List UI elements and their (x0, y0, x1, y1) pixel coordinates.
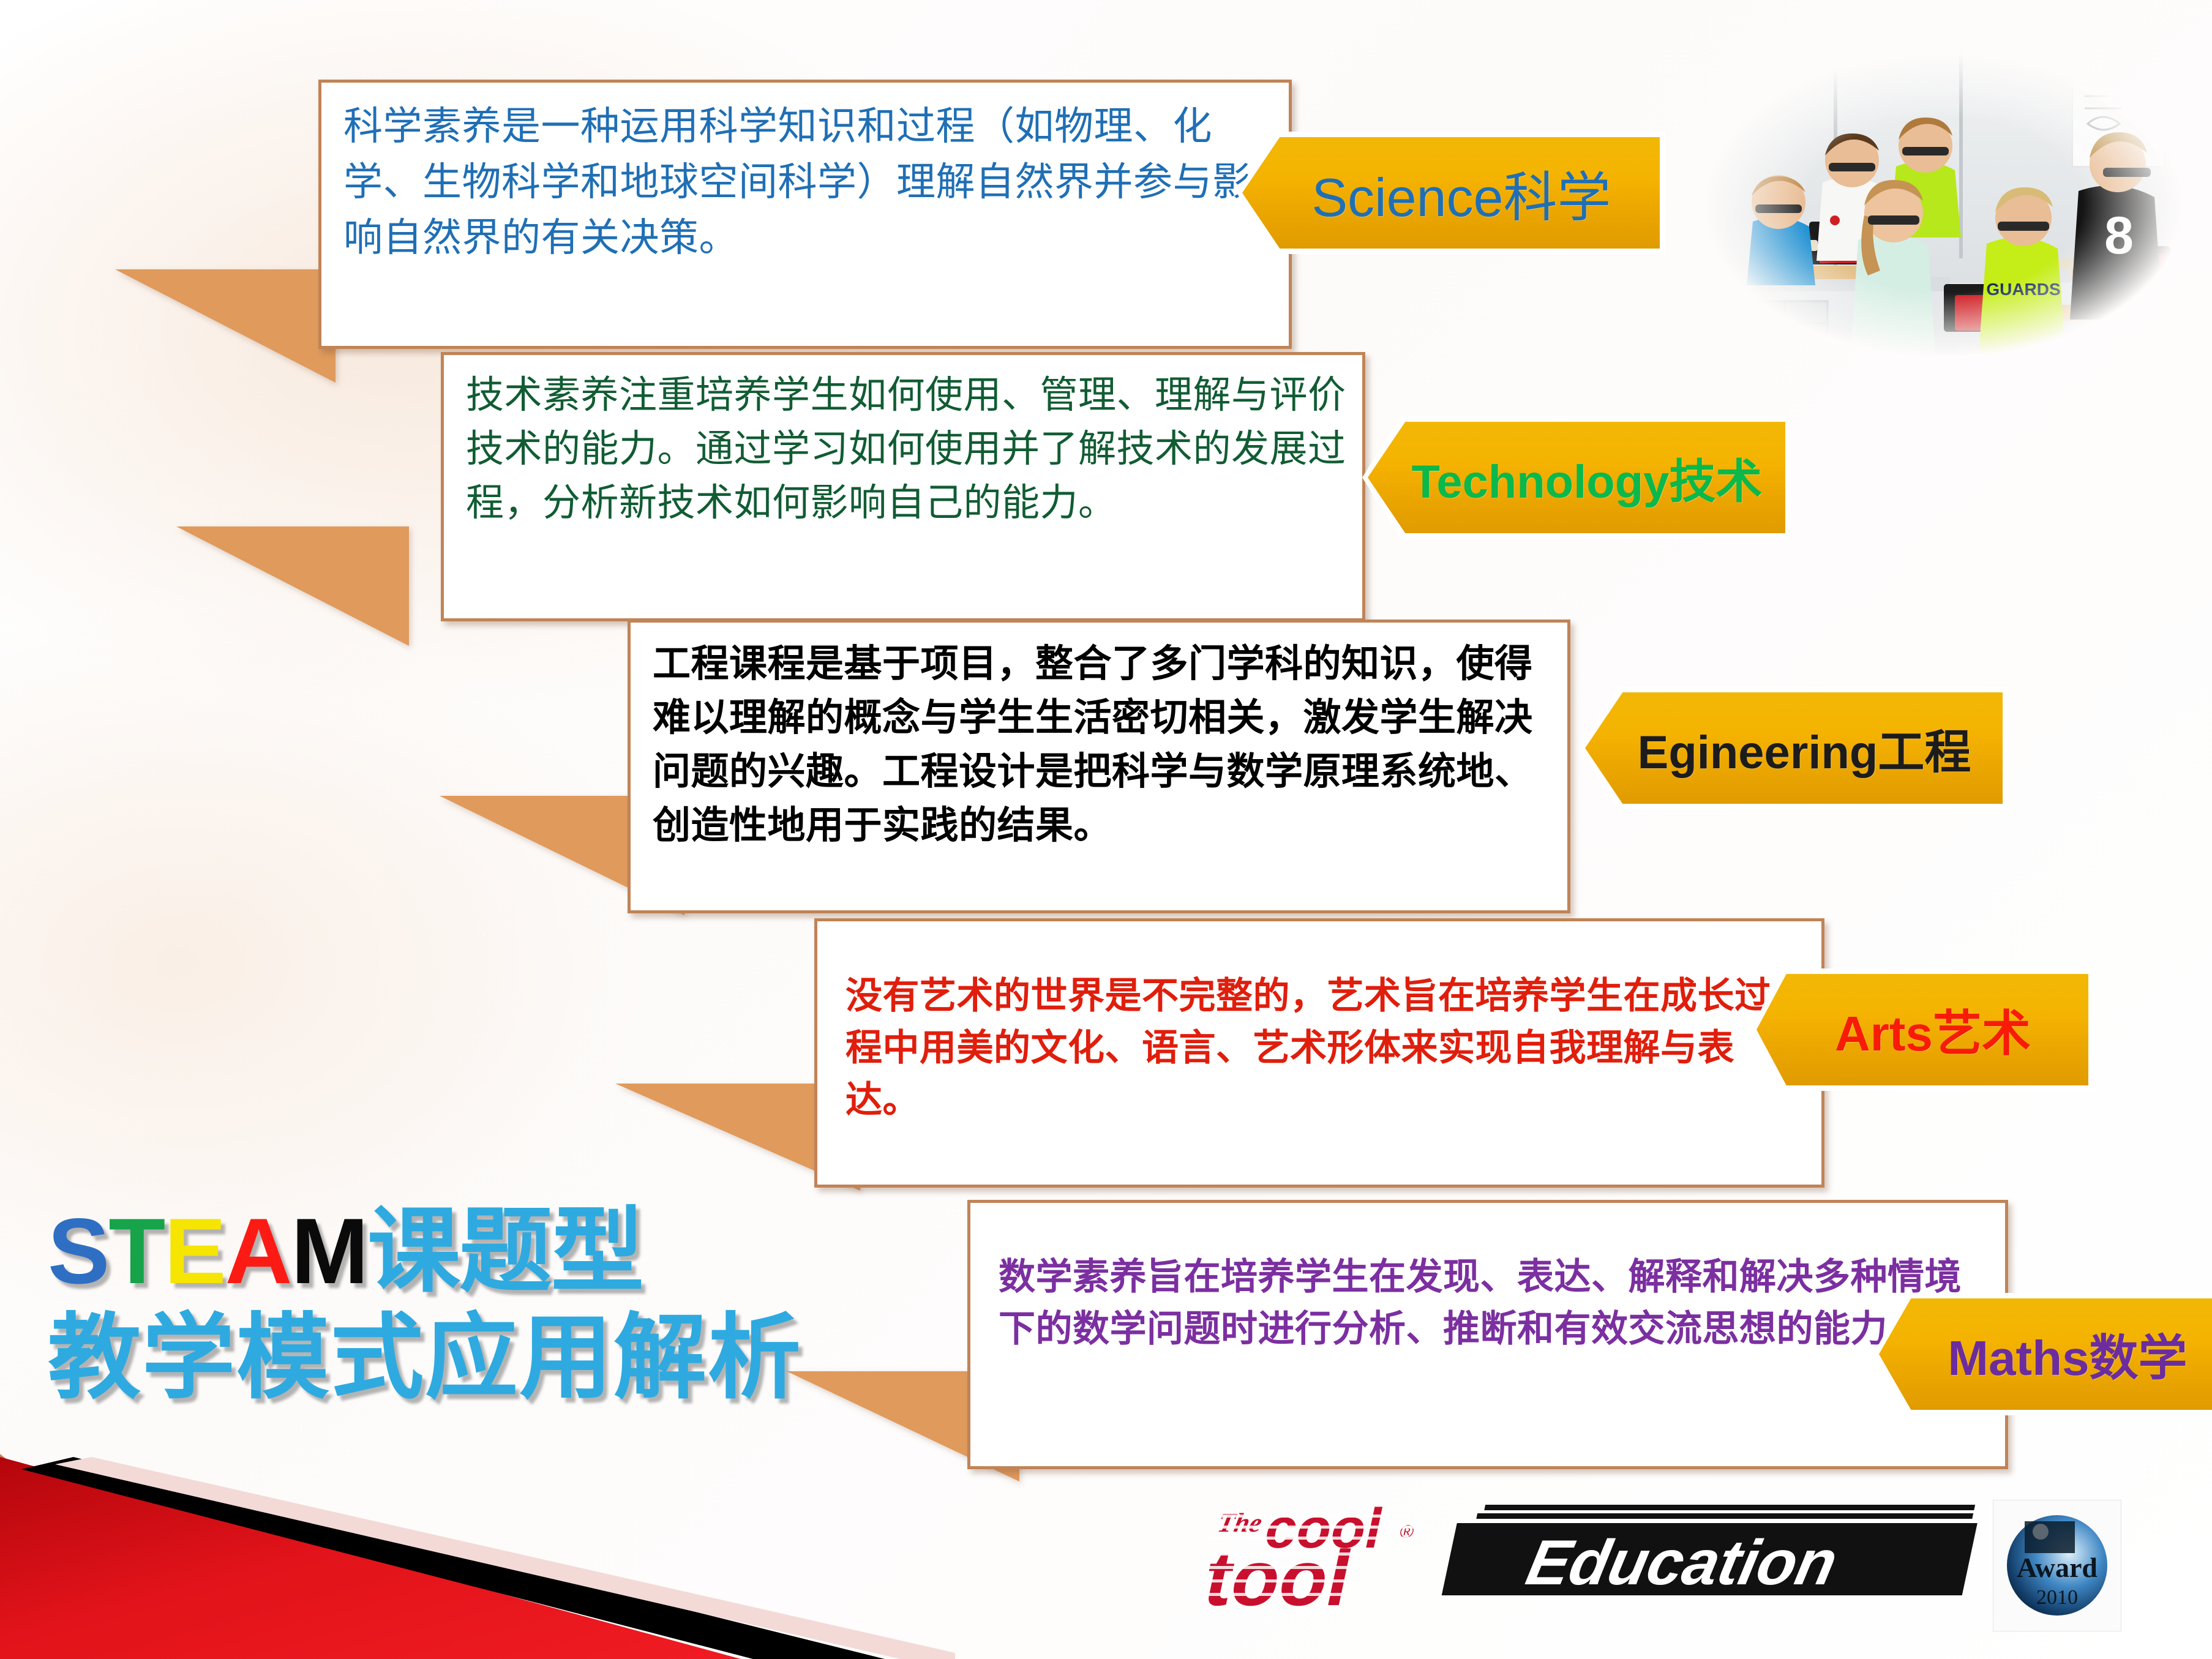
tail-science (115, 269, 336, 383)
svg-text:8: 8 (2104, 206, 2134, 265)
chevron-arts-frame: Arts艺术 (1751, 968, 2094, 1091)
infobox-arts: 没有艺术的世界是不完整的，艺术旨在培养学生在成长过程中用美的文化、语言、艺术形体… (814, 918, 1824, 1188)
title-line-1: STEAM课题型 (48, 1203, 802, 1301)
chevron-maths-label: Maths数学 (1948, 1319, 2187, 1390)
infobox-maths: 数学素养旨在培养学生在发现、表达、解释和解决多种情境下的数学问题时进行分析、推断… (967, 1200, 2008, 1469)
logo-the-text: The (1215, 1507, 1265, 1537)
title-letter-m: M (291, 1199, 367, 1303)
slide-canvas: GUARDS 8 科学素养是一种运用科学知识和过程（如物理、化学、生物科学和地球… (0, 0, 2212, 1659)
title-letter-t: T (108, 1199, 164, 1303)
award-word: Award (2017, 1552, 2098, 1583)
chevron-science-frame: Science科学 (1237, 132, 1665, 254)
decorative-wedge (0, 1396, 955, 1659)
title-letter-s: S (48, 1199, 108, 1303)
title-letter-e: E (164, 1199, 225, 1303)
chevron-science[interactable]: Science科学 (1242, 137, 1660, 249)
infobox-engineering: 工程课程是基于项目，整合了多门学科的知识，使得难以理解的概念与学生生活密切相关，… (628, 620, 1570, 913)
chevron-technology[interactable]: Technology技术 (1368, 422, 1785, 533)
chevron-engineering-frame: Egineering工程 (1580, 687, 2008, 809)
chevron-arts[interactable]: Arts艺术 (1756, 974, 2088, 1085)
arts-body: 没有艺术的世界是不完整的，艺术旨在培养学生在成长过程中用美的文化、语言、艺术形体… (845, 970, 1808, 1127)
page-title: STEAM课题型 教学模式应用解析 (48, 1203, 802, 1407)
engineering-body: 工程课程是基于项目，整合了多门学科的知识，使得难以理解的概念与学生生活密切相关，… (653, 637, 1554, 853)
chevron-engineering-label: Egineering工程 (1638, 714, 1971, 782)
title-line-2: 教学模式应用解析 (48, 1309, 802, 1407)
title-line-1-cn: 课题型 (367, 1199, 643, 1303)
photo-illustration: GUARDS 8 (1681, 38, 2207, 372)
technology-body: 技术素养注重培养学生如何使用、管理、理解与评价技术的能力。通过学习如何使用并了解… (466, 369, 1349, 530)
award-year: 2010 (2036, 1586, 2078, 1609)
title-letter-a: A (225, 1199, 291, 1303)
chevron-technology-frame: Technology技术 (1362, 416, 1791, 539)
logo-tool-text: tool (1200, 1535, 1359, 1616)
chevron-science-label: Science科学 (1311, 154, 1611, 232)
maths-body: 数学素养旨在培养学生在发现、表达、解释和解决多种情境下的数学问题时进行分析、推断… (999, 1251, 1992, 1355)
infobox-technology: 技术素养注重培养学生如何使用、管理、理解与评价技术的能力。通过学习如何使用并了解… (441, 352, 1365, 621)
chevron-technology-label: Technology技术 (1412, 444, 1763, 511)
tail-technology (176, 526, 409, 646)
chevron-maths-frame: Maths数学 (1873, 1293, 2212, 1415)
infobox-science: 科学素养是一种运用科学知识和过程（如物理、化学、生物科学和地球空间科学）理解自然… (318, 80, 1292, 349)
chevron-engineering[interactable]: Egineering工程 (1585, 692, 2003, 804)
cool-tool-education-logo: Education The cool ® tool (1200, 1494, 1990, 1616)
award-badge: Award 2010 (1993, 1500, 2121, 1631)
svg-text:GUARDS: GUARDS (1986, 280, 2060, 299)
workshop-photo: GUARDS 8 (1681, 38, 2207, 372)
chevron-arts-label: Arts艺术 (1835, 994, 2031, 1065)
science-body: 科学素养是一种运用科学知识和过程（如物理、化学、生物科学和地球空间科学）理解自然… (343, 99, 1275, 266)
logo-education-text: Education (1521, 1527, 1843, 1598)
chevron-maths[interactable]: Maths数学 (1879, 1298, 2212, 1410)
